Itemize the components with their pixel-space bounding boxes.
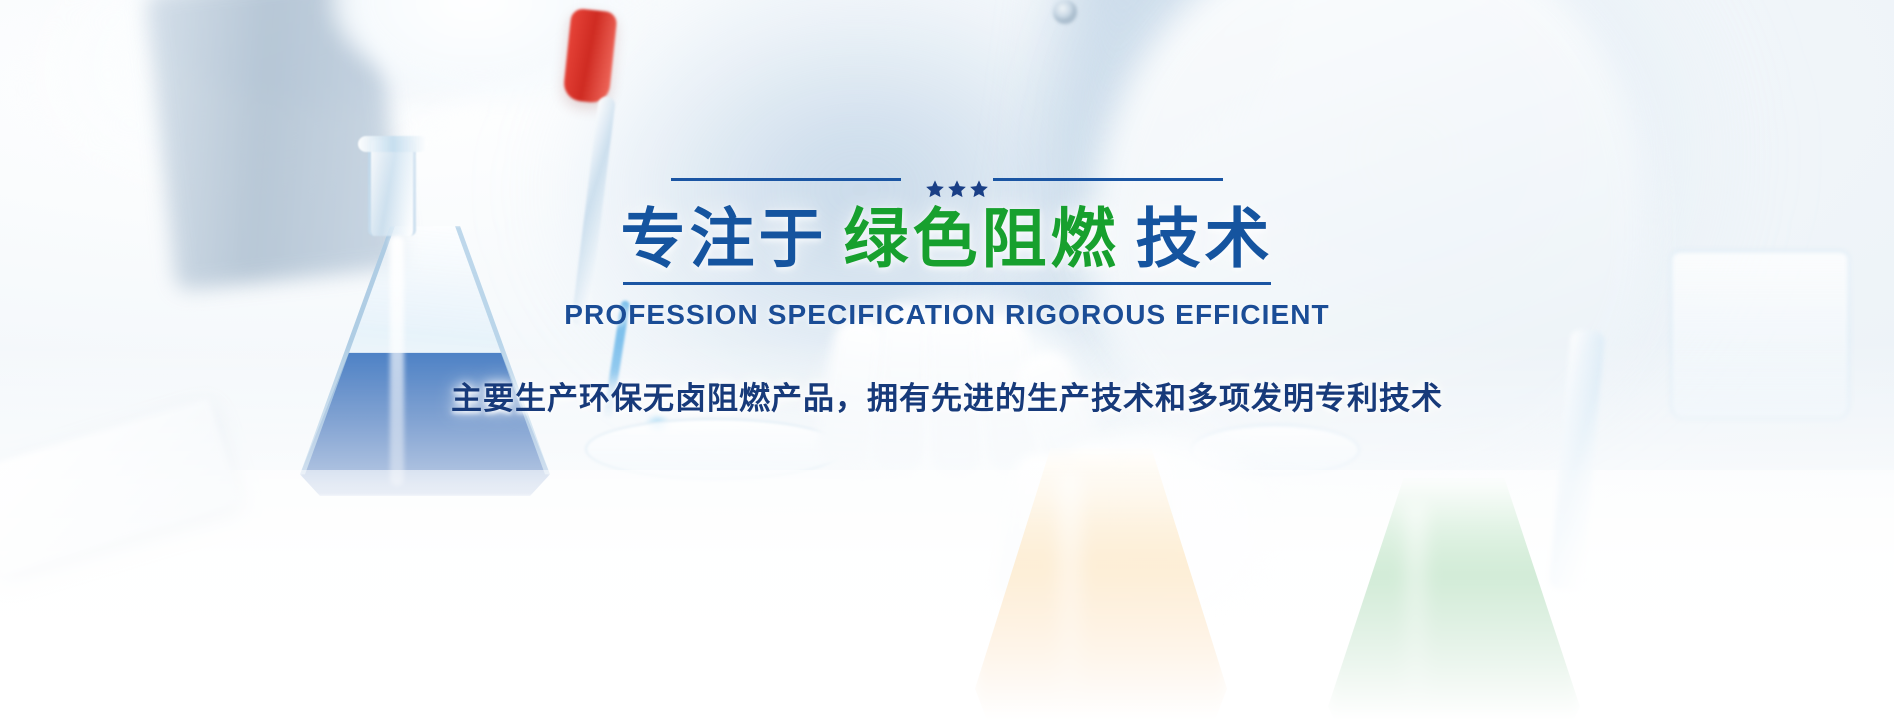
description-chinese: 主要生产环保无卤阻燃产品，拥有先进的生产技术和多项发明专利技术 (451, 373, 1443, 418)
decorative-divider (617, 168, 1277, 190)
headline-part-2: 绿色阻燃 (843, 202, 1119, 275)
subtitle-english: PROFESSION SPECIFICATION RIGOROUS EFFICI… (564, 299, 1330, 331)
banner-content: 专注于绿色阻燃技术 PROFESSION SPECIFICATION RIGOR… (0, 0, 1894, 719)
headline-part-1: 专注于 (620, 202, 827, 275)
headline-part-3: 技术 (1136, 202, 1274, 275)
page-title: 专注于绿色阻燃技术 (620, 204, 1273, 274)
divider-line-left (671, 178, 901, 181)
divider-line-right (993, 178, 1223, 181)
hero-banner: 专注于绿色阻燃技术 PROFESSION SPECIFICATION RIGOR… (0, 0, 1894, 719)
headline-underline (623, 282, 1271, 285)
